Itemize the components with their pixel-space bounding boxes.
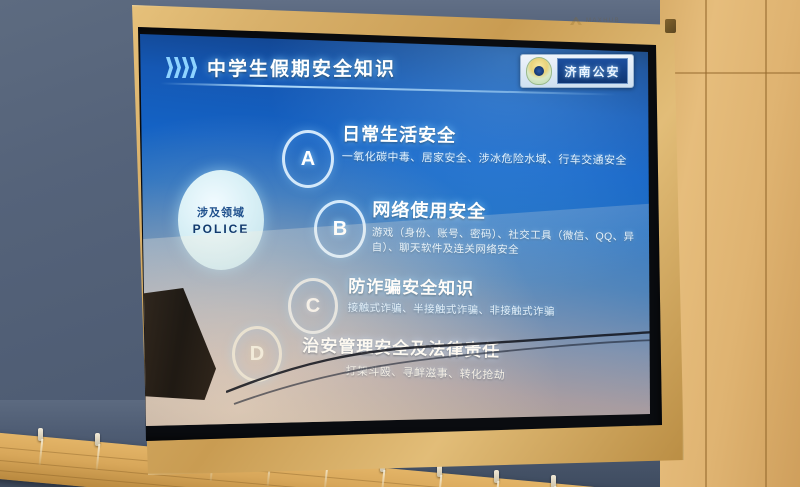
item-b-subtitle: 游戏（身份、账号、密码）、社交工具（微信、QQ、异自）、聊天软件及连关网络安全 <box>371 226 641 261</box>
photo-scene: MAXHUB 中学生假期安全知识 济南公安 涉及领域 POLICE A B <box>0 0 800 487</box>
item-letter-d: D <box>232 326 282 382</box>
presentation-slide: 中学生假期安全知识 济南公安 涉及领域 POLICE A B C D 日常生活安… <box>136 30 652 428</box>
center-topic-oval: 涉及领域 POLICE <box>178 170 264 270</box>
slide-title-row: 中学生假期安全知识 <box>166 54 396 81</box>
item-a-heading: 日常生活安全 <box>342 120 627 150</box>
item-letter-a: A <box>282 130 334 188</box>
slide-item-b: 网络使用安全 游戏（身份、账号、密码）、社交工具（微信、QQ、异自）、聊天软件及… <box>371 196 642 261</box>
double-chevron-right-icon <box>166 57 197 78</box>
police-logo-badge: 济南公安 <box>520 54 634 88</box>
slide-item-d: 治安管理安全及法律责任 打架斗殴、寻衅滋事、转化抢劫 <box>301 331 506 385</box>
item-letter-b: B <box>314 200 366 258</box>
center-label-cn: 涉及领域 <box>197 204 245 220</box>
item-c-heading: 防诈骗安全知识 <box>348 272 556 301</box>
center-label-en: POLICE <box>193 222 250 236</box>
slide-title: 中学生假期安全知识 <box>207 54 396 81</box>
logo-plate: 济南公安 <box>557 58 628 84</box>
slide-item-c: 防诈骗安全知识 接触式诈骗、半接触式诈骗、非接触式诈骗 <box>348 272 556 321</box>
brand-text: MAXHUB <box>586 18 620 24</box>
item-b-heading: 网络使用安全 <box>372 196 642 227</box>
item-d-heading: 治安管理安全及法律责任 <box>302 331 506 362</box>
bezel-corner-screw <box>665 19 676 33</box>
item-letter-c: C <box>288 278 338 334</box>
brand-mark-icon <box>570 17 582 25</box>
display-brand-logo: MAXHUB <box>570 15 650 27</box>
logo-text: 济南公安 <box>564 63 620 80</box>
police-badge-icon <box>526 57 552 85</box>
slide-item-a: 日常生活安全 一氧化碳中毒、居家安全、涉冰危险水域、行车交通安全 <box>342 120 628 170</box>
